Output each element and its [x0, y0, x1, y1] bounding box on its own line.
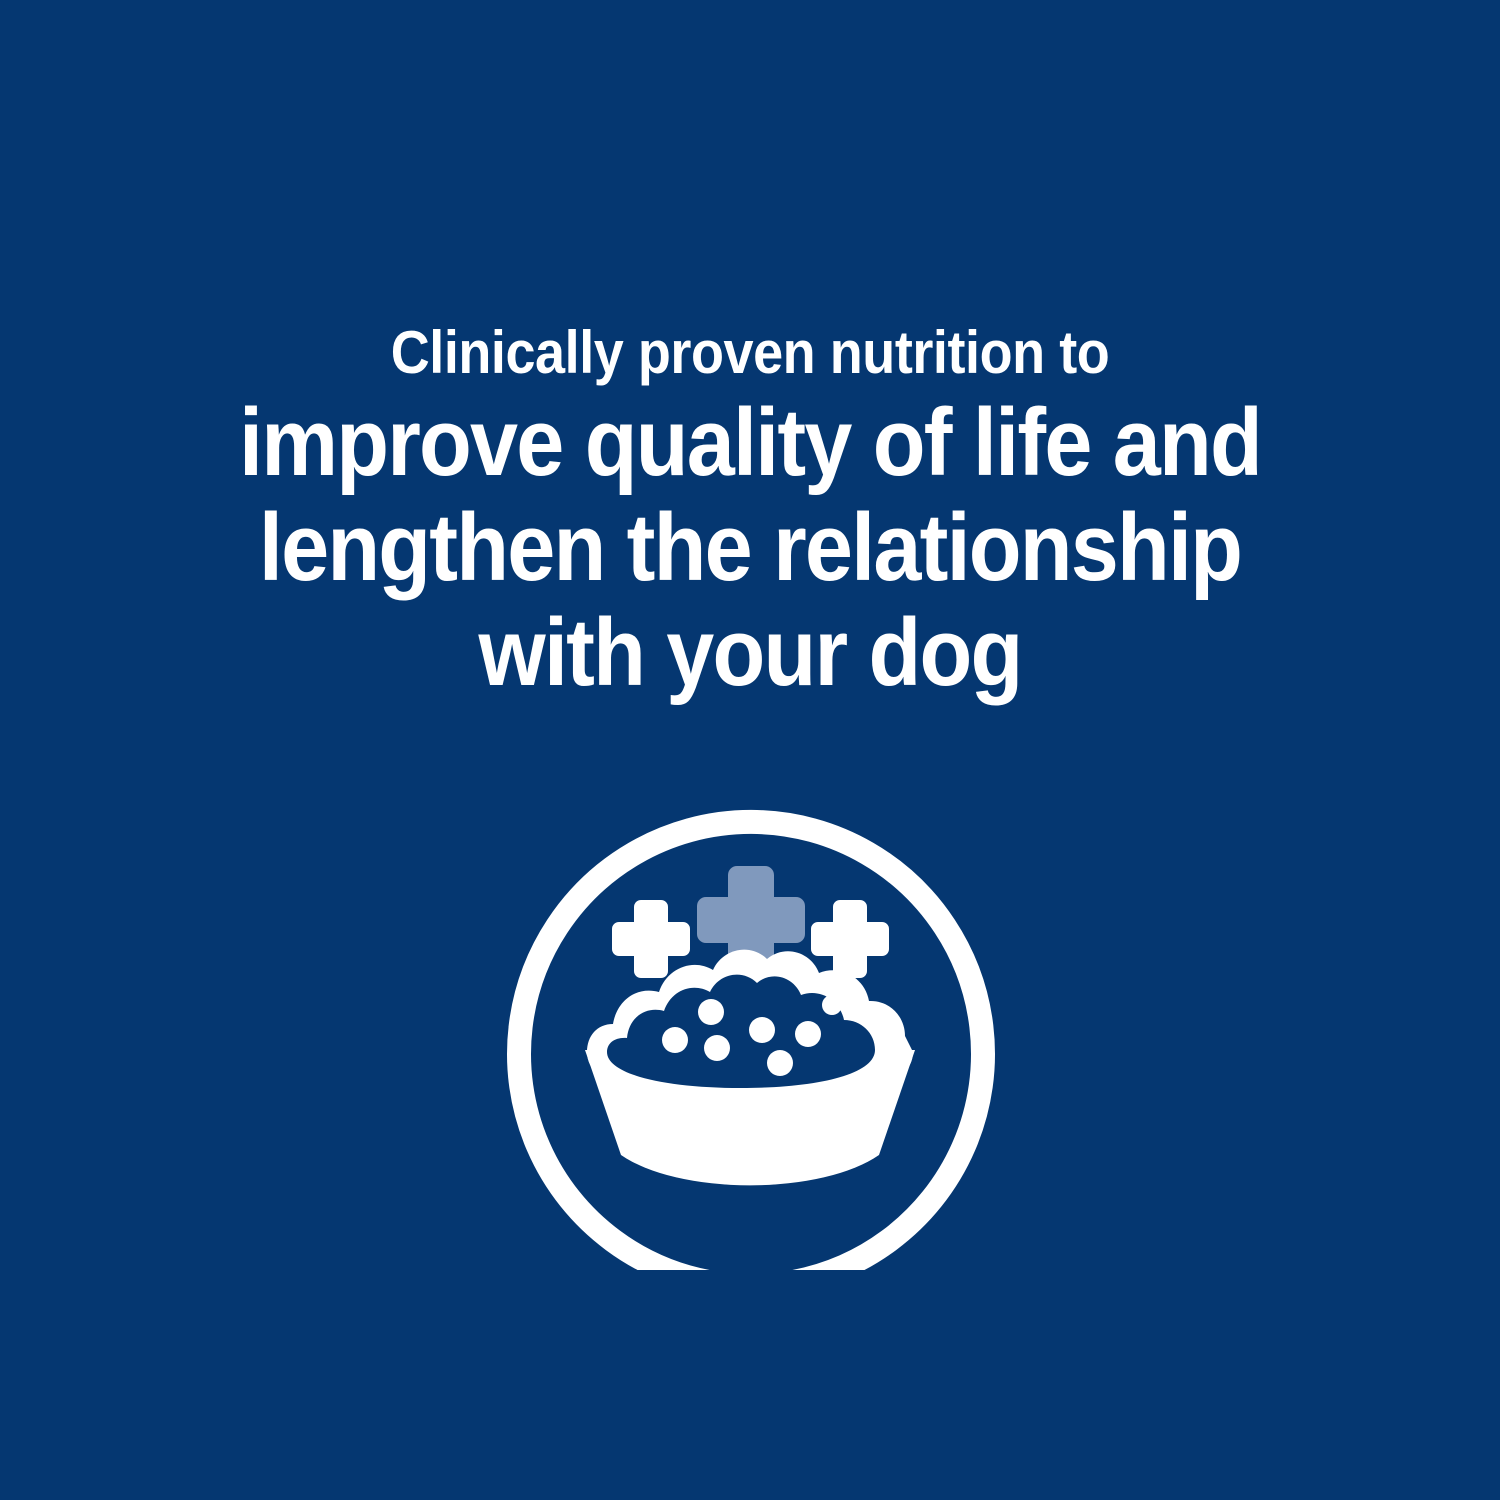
sparkle-left-icon: [612, 900, 690, 978]
sparkle-right-icon: [811, 900, 889, 978]
poster-canvas: Clinically proven nutrition to improve q…: [0, 0, 1500, 1500]
headline-line-1: improve quality of life and: [75, 390, 1425, 495]
headline-eyebrow: Clinically proven nutrition to: [75, 316, 1425, 390]
headline-line-3: with your dog: [75, 600, 1425, 705]
headline-block: Clinically proven nutrition to improve q…: [0, 316, 1500, 705]
headline-line-2: lengthen the relationship: [75, 495, 1425, 600]
food-bowl-sparkles-icon: [495, 800, 1005, 1270]
